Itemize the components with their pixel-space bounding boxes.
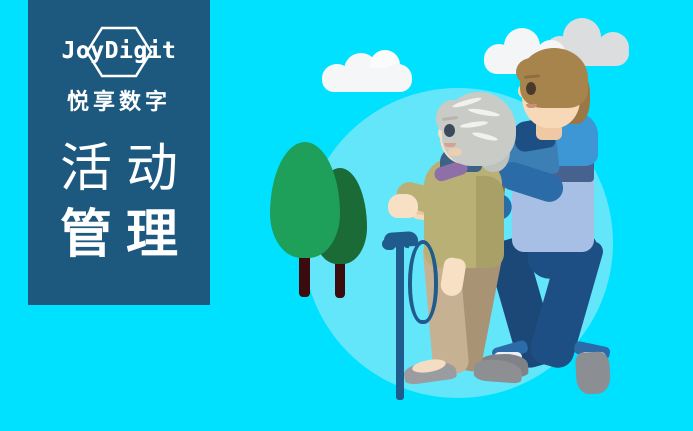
logo-wordmark: JoyDigit bbox=[49, 37, 189, 65]
activity-management-banner: JoyDigit 悦享数字 活动 管理 bbox=[0, 0, 693, 431]
page-title-line2: 管理 bbox=[28, 202, 210, 268]
page-title: 活动 管理 bbox=[28, 136, 210, 268]
cane-holding-hand bbox=[388, 194, 418, 218]
company-name-cn: 悦享数字 bbox=[28, 84, 210, 116]
brand-logo: JoyDigit 悦享数字 bbox=[28, 26, 210, 116]
title-panel: JoyDigit 悦享数字 活动 管理 bbox=[28, 0, 210, 305]
walking-cane-icon bbox=[380, 228, 436, 400]
tree-icon-front bbox=[270, 142, 340, 297]
cloud-icon-left bbox=[322, 48, 412, 90]
logo-mark: JoyDigit bbox=[49, 26, 189, 78]
page-title-line1: 活动 bbox=[28, 136, 210, 202]
